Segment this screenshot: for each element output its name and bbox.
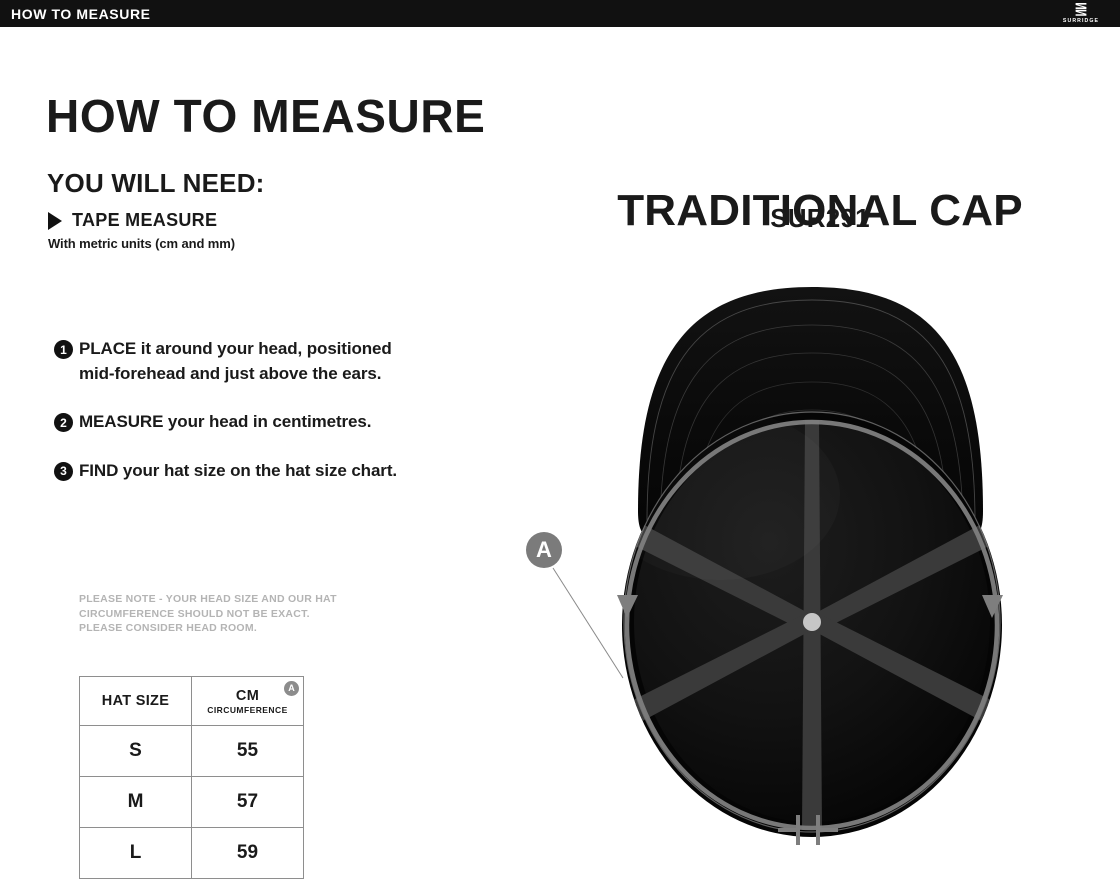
hat-size-chart-table: HAT SIZE CM CIRCUMFERENCE A S 55 M 57 L … [79, 676, 304, 879]
cell-cm: 55 [192, 726, 304, 777]
cell-cm: 57 [192, 777, 304, 828]
you-will-need-heading: YOU WILL NEED: [47, 168, 265, 199]
table-header-row: HAT SIZE CM CIRCUMFERENCE A [80, 677, 304, 726]
step-text: PLACE it around your head, positioned mi… [79, 337, 404, 386]
step-number-badge: 3 [54, 462, 73, 481]
step-text: FIND your hat size on the hat size chart… [79, 459, 397, 484]
cap-top-view-diagram [505, 270, 1045, 883]
table-row: M 57 [80, 777, 304, 828]
page-title: HOW TO MEASURE [46, 93, 485, 139]
cap-centre-button [803, 613, 821, 631]
cell-cm: 59 [192, 828, 304, 879]
table-header-cm-circumference: CM CIRCUMFERENCE A [192, 677, 304, 726]
callout-badge-a: A [526, 532, 562, 568]
step-text: MEASURE your head in centimetres. [79, 410, 371, 435]
measurement-badge-a: A [284, 681, 299, 696]
table-row: S 55 [80, 726, 304, 777]
cell-hat-size: S [80, 726, 192, 777]
surridge-s-monogram-icon [1073, 2, 1089, 17]
product-code: SUR291 [430, 203, 1120, 234]
disclaimer-note-line: PLEASE CONSIDER HEAD ROOM. [79, 621, 337, 636]
callout-leader-line [553, 568, 623, 678]
cap-illustration-svg [505, 270, 1045, 883]
disclaimer-note-line: PLEASE NOTE - YOUR HEAD SIZE AND OUR HAT [79, 592, 337, 607]
list-item: 2 MEASURE your head in centimetres. [54, 410, 404, 435]
table-header-hat-size: HAT SIZE [80, 677, 192, 726]
brand-logo: SURRIDGE [1052, 1, 1110, 26]
list-item: 1 PLACE it around your head, positioned … [54, 337, 404, 386]
tool-name-label: TAPE MEASURE [72, 210, 217, 231]
disclaimer-note: PLEASE NOTE - YOUR HEAD SIZE AND OUR HAT… [79, 592, 337, 636]
brand-wordmark: SURRIDGE [1063, 18, 1099, 25]
step-number-badge: 2 [54, 413, 73, 432]
triangle-bullet-icon [48, 212, 62, 230]
cell-hat-size: L [80, 828, 192, 879]
top-header-bar: HOW TO MEASURE SURRIDGE [0, 0, 1120, 27]
top-header-title: HOW TO MEASURE [11, 6, 151, 22]
tool-item-tape-measure: TAPE MEASURE [48, 210, 217, 231]
list-item: 3 FIND your hat size on the hat size cha… [54, 459, 404, 484]
step-number-badge: 1 [54, 340, 73, 359]
table-row: L 59 [80, 828, 304, 879]
cell-hat-size: M [80, 777, 192, 828]
instruction-steps-list: 1 PLACE it around your head, positioned … [54, 337, 404, 507]
disclaimer-note-line: CIRCUMFERENCE SHOULD NOT BE EXACT. [79, 607, 337, 622]
tool-subtitle-label: With metric units (cm and mm) [48, 236, 235, 251]
